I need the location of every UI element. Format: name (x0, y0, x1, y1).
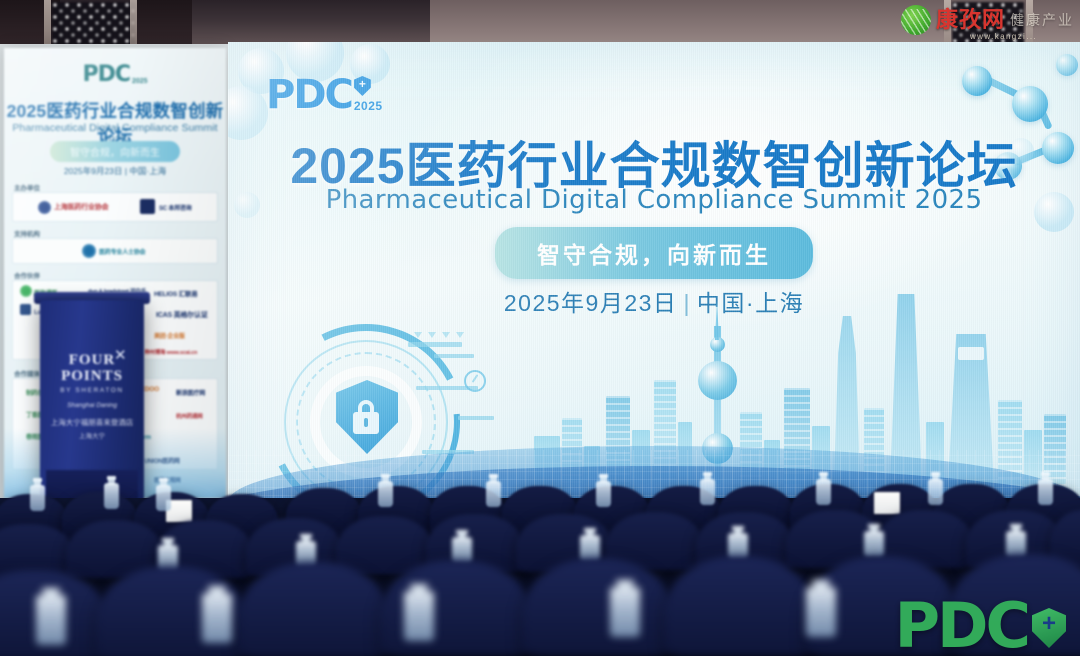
shield-plus-icon (354, 76, 371, 96)
water-bottle-f1 (36, 588, 66, 656)
podium-property-cn: 上海大宁福朋喜来登酒店 (40, 417, 144, 428)
bottle-body (864, 531, 884, 557)
screen-logo-year: 2025 (354, 99, 383, 113)
pdc-watermark-mark: PDC (895, 598, 1028, 654)
pearl-tower-spire (715, 300, 719, 340)
bottle-body (596, 481, 611, 507)
water-bottle-b7 (700, 472, 715, 508)
wfc-aperture (958, 347, 984, 360)
bottle-body (404, 591, 434, 641)
standee-sponsor-1-0: 医药专业人士协会 (99, 247, 145, 256)
hud-triangle-1 (414, 332, 422, 338)
site-tagline: 健康产业 (1010, 10, 1074, 30)
water-bottle-b6 (596, 474, 611, 510)
water-bottle-b4 (378, 474, 393, 510)
standee-section-label-2: 合作伙伴 (14, 270, 40, 280)
standee-slogan: 智守合规，向新而生 (50, 141, 180, 162)
podium-sign: FOUR POINTS BY SHERATON Shanghai Daning … (40, 352, 144, 440)
seat-row3-3 (238, 562, 390, 656)
standee-sponsor-2-6: 美团·企业版 (154, 331, 185, 340)
standee-sponsor-2-2: HELIOS 汇联易 (154, 288, 198, 298)
sponsor-emblem-lucanet (20, 304, 31, 315)
standee-logo-mark: PDC (82, 62, 130, 87)
water-bottle-f4 (610, 580, 640, 648)
water-bottle-f5 (806, 580, 836, 648)
bottle-body (486, 481, 501, 507)
standee-sponsor-3-4: 新浪医疗网 (176, 388, 205, 397)
bottle-body (806, 587, 836, 637)
bottle-body (610, 587, 640, 637)
hud-triangle-4 (456, 332, 464, 338)
screen-logo-mark: PDC (266, 76, 352, 114)
standee-sponsor-2-5: ICAS 英格尔认证 (156, 310, 208, 320)
screen-logo: PDC 2025 (266, 74, 374, 114)
leaf-logo-icon (901, 5, 931, 35)
sponsor-emblem-assoc (82, 244, 96, 258)
sponsor-emblem-sc (140, 199, 155, 214)
standee-logo: PDC 2025 (82, 62, 147, 87)
standee-section-label-1: 支持机构 (14, 228, 40, 238)
bottle-body (700, 479, 715, 505)
seat-row3-6 (664, 556, 816, 656)
water-bottle-b9 (928, 472, 943, 508)
podium-property: Shanghai Daning (40, 402, 144, 409)
hud-triangle-2 (428, 332, 436, 338)
lock-keyhole-icon (364, 418, 368, 427)
molecule-atom-1 (962, 66, 992, 96)
water-bottle-b8 (816, 472, 831, 508)
hud-bar-2 (434, 354, 474, 358)
led-stage-screen: PDC 2025 2025医药行业合规数智创新论坛 Pharmaceutical… (228, 42, 1080, 520)
standee-sponsor-2-7: 神州博海 www.scai.cn (144, 348, 197, 356)
standee-sponsor-3-6: 杭州药通网 (176, 412, 203, 420)
podium-brand-line3: BY SHERATON (40, 387, 144, 394)
water-bottle-b5 (486, 474, 501, 510)
bottle-body (30, 485, 45, 511)
hud-bar-4 (458, 416, 494, 420)
seat-row3-4 (380, 560, 532, 656)
water-bottle-b10 (1038, 472, 1053, 508)
bottle-body (928, 479, 943, 505)
conference-photo: PDC 2025 2025医药行业合规数智创新论坛 Pharmaceutical… (0, 0, 1080, 656)
water-bottle-b2 (104, 476, 119, 512)
standee-section-label-3: 合作媒体 (14, 368, 40, 378)
standee-date: 2025年9月23日 | 中国·上海 (4, 165, 226, 177)
sponsor-emblem-shpa (38, 201, 51, 214)
molecule-atom-5 (1056, 54, 1078, 76)
water-bottle-f2 (202, 586, 232, 654)
sheraton-x-icon: ✕ (114, 348, 130, 364)
hud-dial-icon (464, 370, 486, 392)
hud-triangle-3 (442, 332, 450, 338)
sponsor-emblem-yzt (20, 285, 32, 297)
decor-mesh-panel (52, 2, 136, 50)
pdc-watermark-bottom: PDC (895, 598, 1066, 654)
pearl-tower-upper-sphere (698, 361, 737, 400)
bottle-body (156, 485, 171, 511)
site-watermark-top: 康孜网 www.kangzi... 健康产业 (901, 2, 1074, 38)
water-bottle-f3 (404, 584, 434, 652)
bottle-body (816, 479, 831, 505)
standee-sponsor-0-1: SC 本邦咨询 (159, 203, 192, 212)
bottle-body (378, 481, 393, 507)
seat-card-2 (874, 492, 900, 514)
hud-bar-1 (408, 342, 462, 347)
screen-title-en: Pharmaceutical Digital Compliance Summit… (228, 185, 1080, 215)
standee-sponsor-0-0: 上海医药行业协会 (54, 202, 108, 212)
seat-row3-5 (522, 558, 674, 656)
podium-property-cn2: 上海大宁 (40, 430, 144, 440)
water-bottle-b1 (30, 478, 45, 514)
water-bottle-b3 (156, 478, 171, 514)
screen-logo-shield-wrap: 2025 (352, 74, 374, 114)
shield-plus-icon-green (1032, 608, 1066, 648)
molecule-atom-2 (1012, 86, 1048, 122)
site-url: www.kangzi... (970, 32, 1037, 41)
bottle-body (1038, 479, 1053, 505)
bottle-body (202, 593, 232, 643)
site-name: 康孜网 (936, 7, 1005, 32)
podium-brand-line2: POINTS (40, 368, 144, 384)
standee-logo-year: 2025 (132, 78, 148, 87)
bottle-body (36, 595, 66, 645)
standee-section-label-0: 主办单位 (14, 182, 40, 192)
bottle-body (104, 483, 119, 509)
